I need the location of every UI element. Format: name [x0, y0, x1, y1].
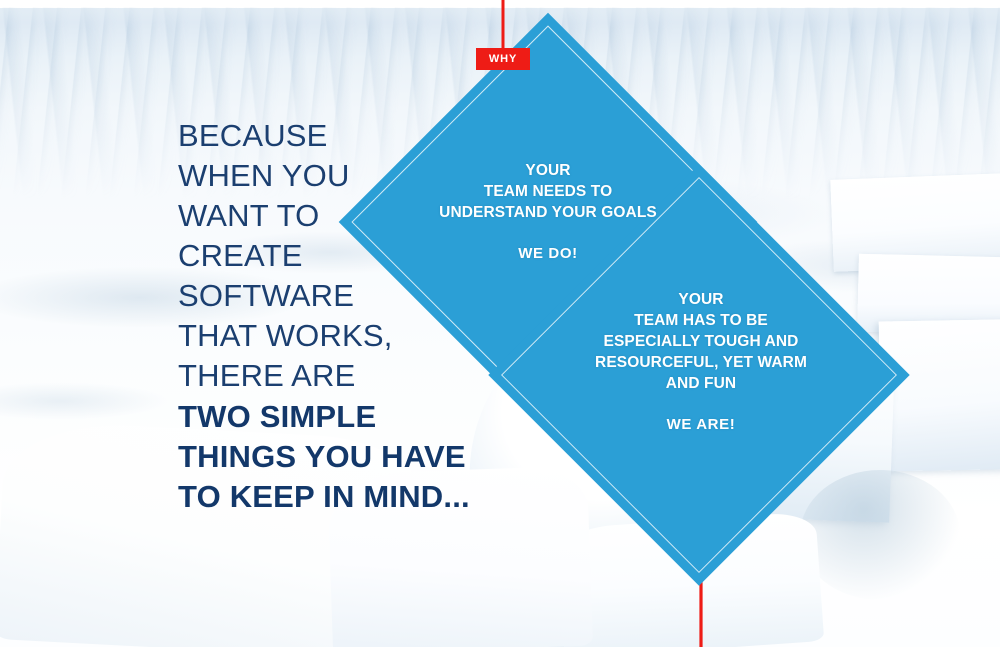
top-white-band	[0, 0, 1000, 7]
ice-cave-shadow	[800, 470, 960, 600]
why-badge[interactable]: WHY	[476, 48, 530, 70]
headline-block: BECAUSE WHEN YOU WANT TO CREATE SOFTWARE…	[178, 116, 498, 517]
ice-slab	[879, 319, 1000, 472]
headline-light-text: BECAUSE WHEN YOU WANT TO CREATE SOFTWARE…	[178, 116, 498, 396]
headline-bold-text: TWO SIMPLE THINGS YOU HAVE TO KEEP IN MI…	[178, 397, 498, 517]
slide-canvas: BECAUSE WHEN YOU WANT TO CREATE SOFTWARE…	[0, 0, 1000, 647]
